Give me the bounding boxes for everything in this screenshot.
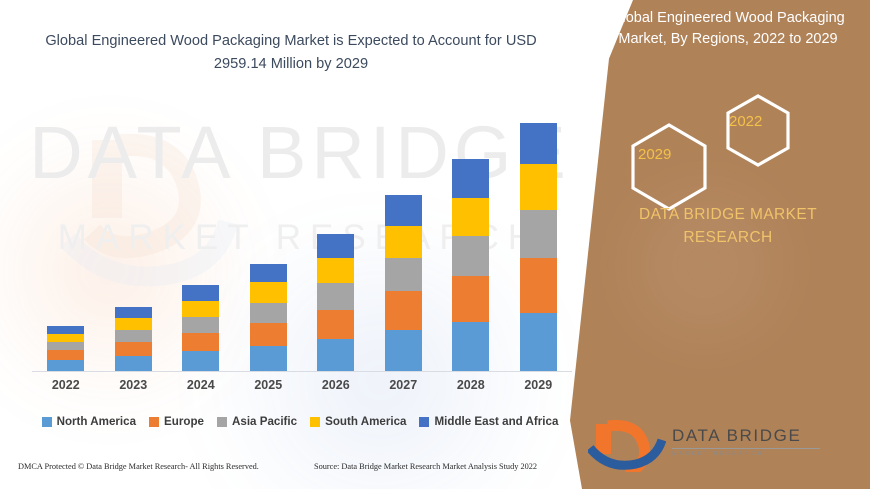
legend-swatch	[42, 417, 52, 427]
bar-column	[370, 110, 438, 371]
bar-segment	[47, 342, 84, 350]
footer: DMCA Protected © Data Bridge Market Rese…	[0, 458, 600, 486]
bar-segment	[385, 195, 422, 226]
bar-segment	[250, 346, 287, 371]
stacked-bar	[250, 264, 287, 371]
bar-segment	[115, 330, 152, 342]
bar-segment	[47, 334, 84, 342]
brand-logo-tagline: MARKET RESEARCH	[672, 448, 820, 457]
panel-brand-line2: RESEARCH	[590, 226, 866, 249]
brand-logo: DATA BRIDGE MARKET RESEARCH	[588, 420, 858, 476]
bar-segment	[317, 258, 354, 283]
bar-column	[302, 110, 370, 371]
bar-segment	[182, 301, 219, 317]
right-brand-panel: Global Engineered Wood Packaging Market,…	[570, 0, 870, 489]
legend-item[interactable]: Europe	[149, 415, 204, 428]
bar-segment	[452, 198, 489, 236]
bar-segment	[115, 356, 152, 371]
panel-title: Global Engineered Wood Packaging Market,…	[592, 8, 864, 50]
x-axis-tick-labels: 20222023202420252026202720282029	[32, 378, 572, 392]
legend-swatch	[310, 417, 320, 427]
bar-segment	[385, 258, 422, 291]
bar-segment	[47, 360, 84, 371]
stacked-bar	[317, 234, 354, 371]
stacked-bar	[385, 195, 422, 371]
x-axis-label: 2022	[32, 378, 100, 392]
bar-segment	[317, 234, 354, 258]
bar-segment	[520, 164, 557, 209]
bar-segment	[182, 285, 219, 300]
bar-segment	[182, 317, 219, 333]
bar-column	[235, 110, 303, 371]
bar-segment	[520, 313, 557, 371]
bar-segment	[250, 303, 287, 323]
infographic-canvas: DATA BRIDGE MARKET RESEARCH Global Engin…	[0, 0, 870, 489]
legend-item[interactable]: South America	[310, 415, 406, 428]
x-axis-label: 2025	[235, 378, 303, 392]
stacked-bar-chart: 20222023202420252026202720282029	[20, 110, 580, 410]
bar-segment	[317, 310, 354, 339]
bar-segment	[250, 282, 287, 302]
stacked-bar	[182, 285, 219, 371]
x-axis-label: 2023	[100, 378, 168, 392]
legend-label: Europe	[164, 415, 204, 428]
bar-segment	[115, 342, 152, 356]
legend-label: Asia Pacific	[232, 415, 297, 428]
bar-column	[505, 110, 573, 371]
chart-legend: North AmericaEuropeAsia PacificSouth Ame…	[20, 415, 580, 428]
bar-segment	[182, 351, 219, 371]
bar-segment	[250, 264, 287, 282]
stacked-bar	[452, 159, 489, 371]
brand-logo-mark-icon	[588, 420, 666, 472]
legend-item[interactable]: Middle East and Africa	[419, 415, 558, 428]
brand-logo-name: DATA BRIDGE	[672, 426, 820, 446]
hexagon-2022-label: 2022	[729, 113, 762, 130]
bar-segment	[452, 236, 489, 276]
footer-copyright: DMCA Protected © Data Bridge Market Rese…	[18, 462, 259, 471]
headline-title: Global Engineered Wood Packaging Market …	[36, 30, 546, 75]
legend-swatch	[149, 417, 159, 427]
bar-segment	[317, 339, 354, 371]
bar-group	[32, 110, 572, 371]
footer-source: Source: Data Bridge Market Research Mark…	[314, 462, 537, 471]
legend-label: South America	[325, 415, 406, 428]
stacked-bar	[520, 123, 557, 371]
brand-logo-text: DATA BRIDGE MARKET RESEARCH	[672, 426, 820, 457]
legend-label: North America	[57, 415, 136, 428]
panel-brand-name: DATA BRIDGE MARKET RESEARCH	[590, 203, 866, 250]
legend-item[interactable]: North America	[42, 415, 136, 428]
bar-column	[437, 110, 505, 371]
bar-segment	[47, 350, 84, 360]
panel-brand-line1: DATA BRIDGE MARKET	[590, 203, 866, 226]
chart-plot-area	[32, 110, 572, 372]
bar-segment	[317, 283, 354, 309]
bar-segment	[385, 291, 422, 329]
stacked-bar	[47, 326, 84, 371]
x-axis-label: 2026	[302, 378, 370, 392]
bar-segment	[115, 318, 152, 330]
bar-segment	[452, 276, 489, 321]
legend-swatch	[217, 417, 227, 427]
bar-segment	[115, 307, 152, 318]
bar-column	[167, 110, 235, 371]
stacked-bar	[115, 307, 152, 371]
bar-segment	[385, 330, 422, 371]
bar-column	[100, 110, 168, 371]
bar-segment	[47, 326, 84, 334]
x-axis-label: 2024	[167, 378, 235, 392]
bar-segment	[182, 333, 219, 351]
bar-segment	[520, 210, 557, 258]
x-axis-label: 2027	[370, 378, 438, 392]
panel-glow	[600, 150, 810, 380]
bar-segment	[250, 323, 287, 346]
bar-segment	[385, 226, 422, 258]
legend-item[interactable]: Asia Pacific	[217, 415, 297, 428]
bar-segment	[520, 258, 557, 312]
x-axis-label: 2028	[437, 378, 505, 392]
bar-segment	[452, 322, 489, 371]
bar-column	[32, 110, 100, 371]
legend-swatch	[419, 417, 429, 427]
x-axis-line	[32, 371, 572, 372]
legend-label: Middle East and Africa	[434, 415, 558, 428]
bar-segment	[520, 123, 557, 164]
bar-segment	[452, 159, 489, 197]
x-axis-label: 2029	[505, 378, 573, 392]
